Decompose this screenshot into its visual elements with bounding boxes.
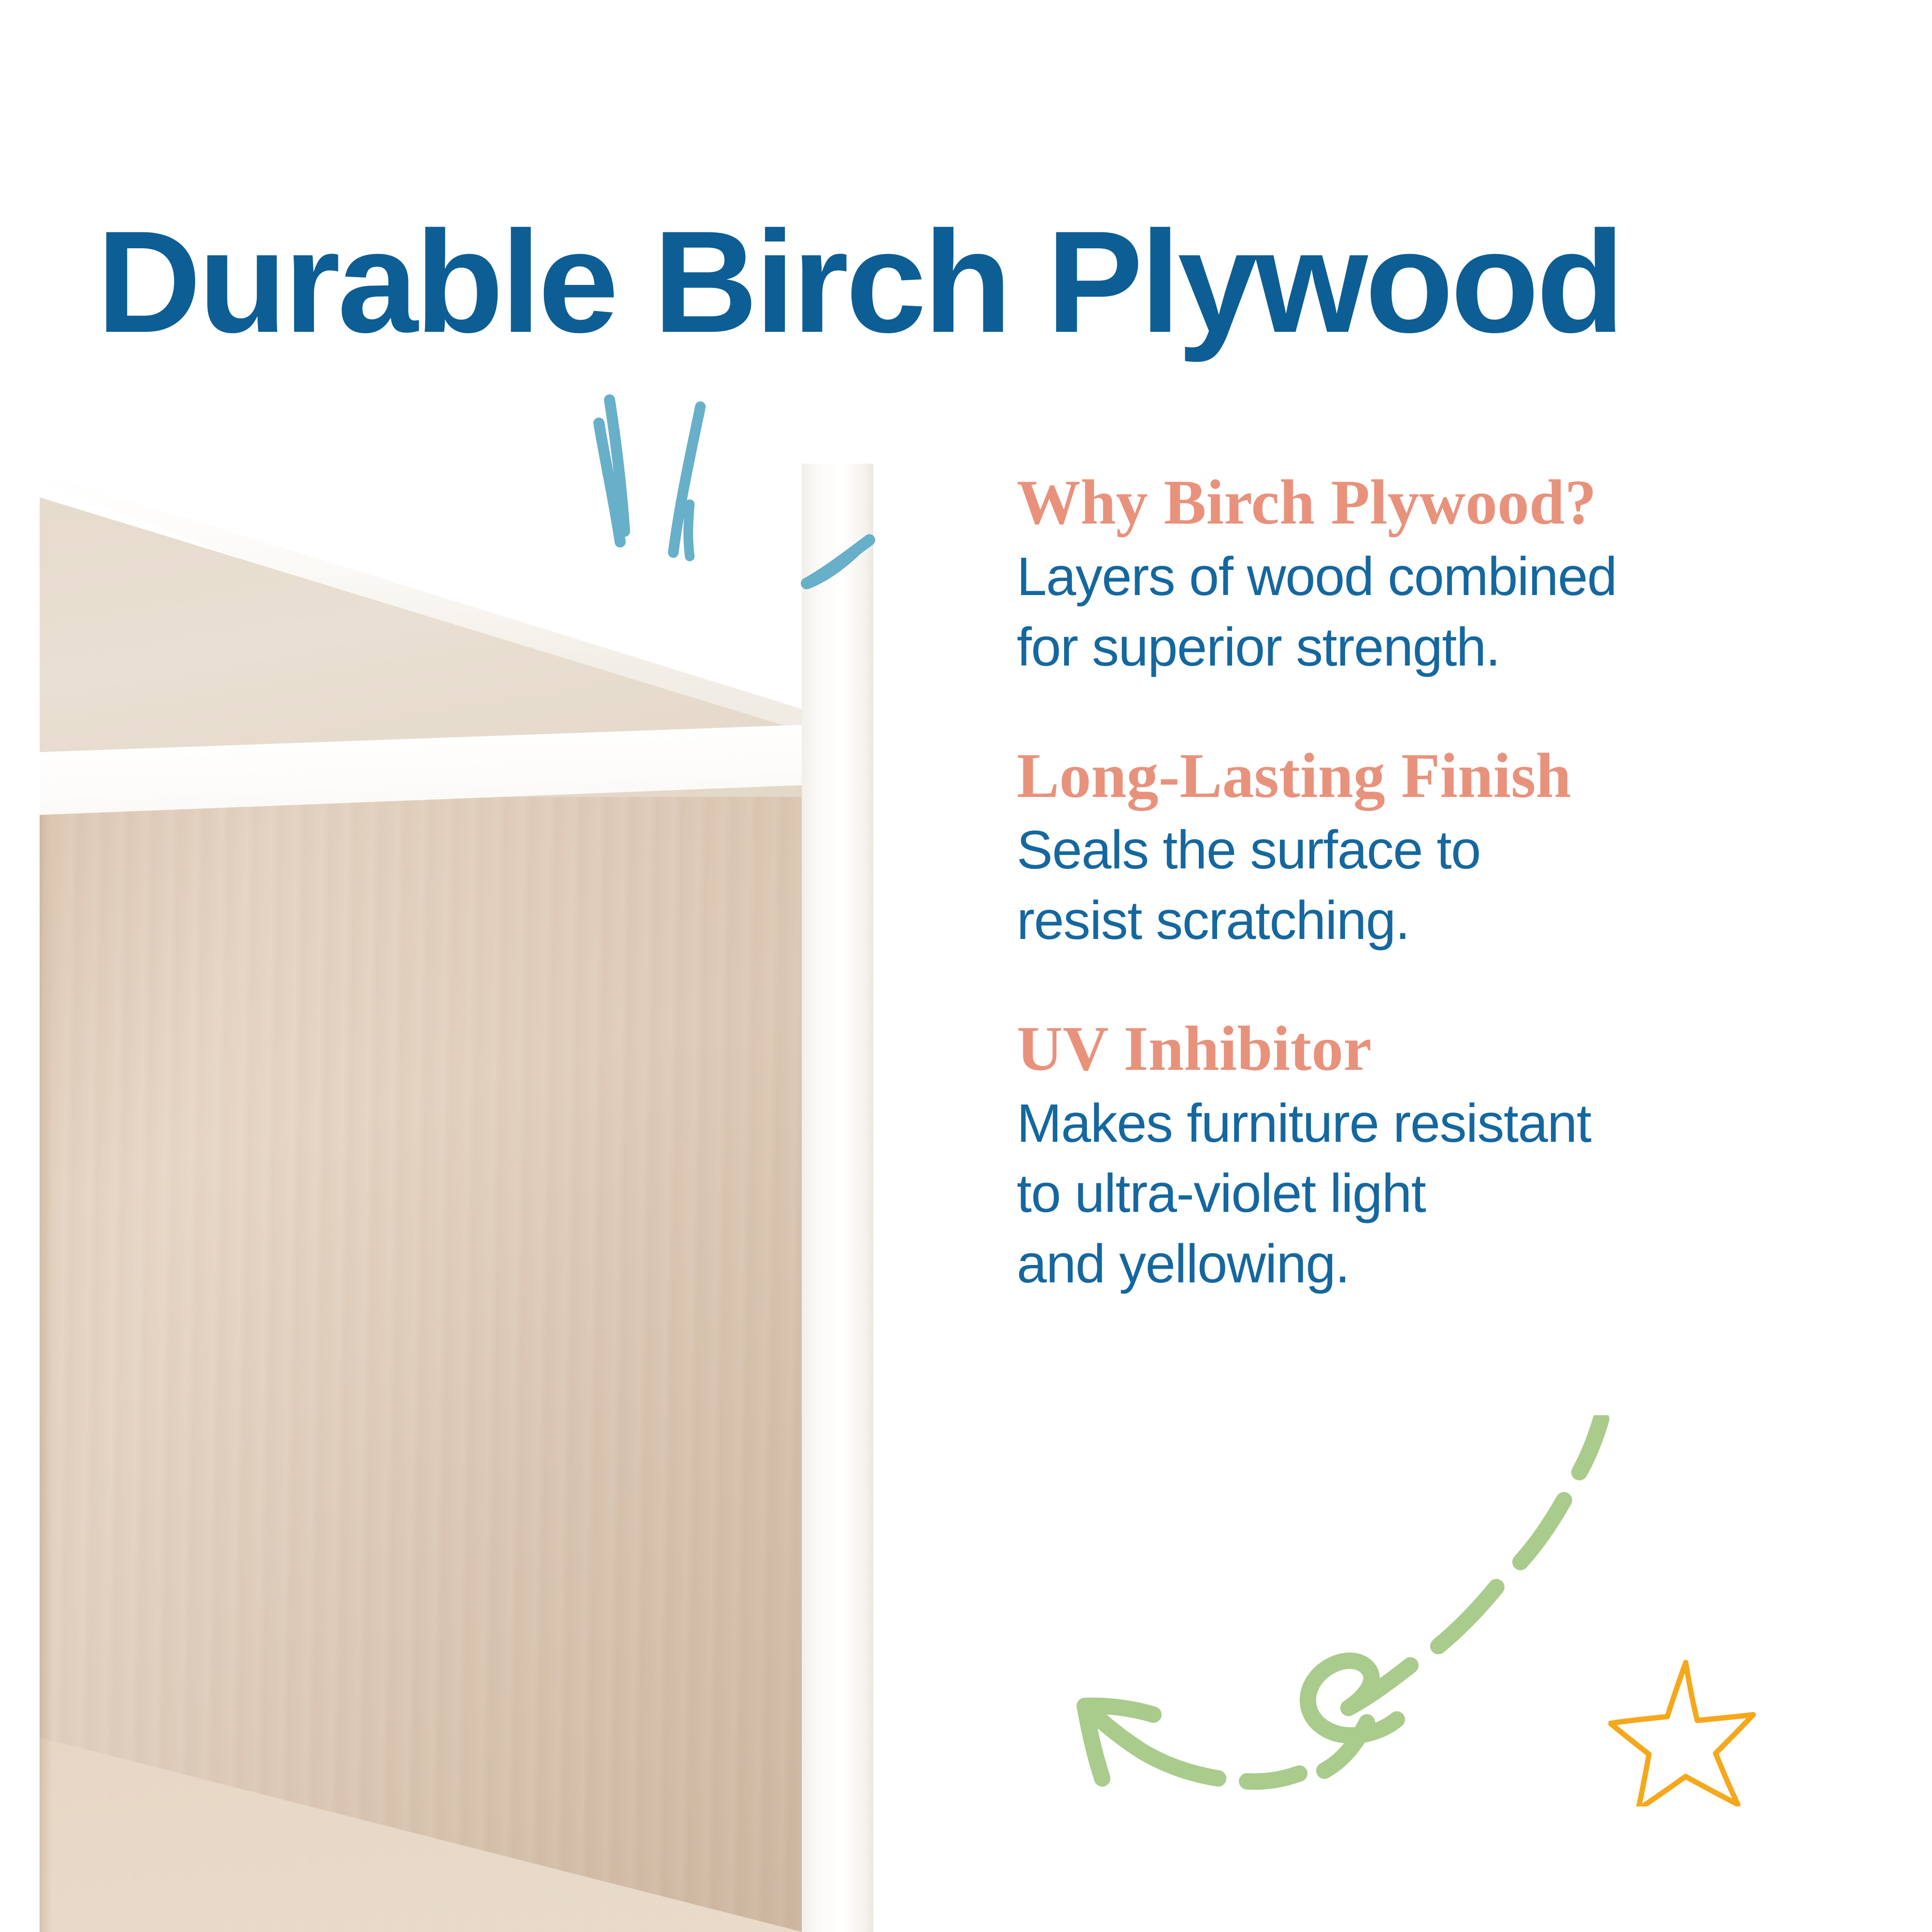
feature-heading: Why Birch Plywood? xyxy=(1017,466,1886,539)
star-outline-svg xyxy=(1608,1652,1763,1806)
star-outline-icon xyxy=(1608,1652,1763,1806)
interior-left-shadow xyxy=(40,797,52,1932)
feature-block-uv-inhibitor: UV Inhibitor Makes furniture resistant t… xyxy=(1017,1012,1886,1299)
curly-arrow-svg xyxy=(1029,1415,1666,1802)
cabinet-side-panel xyxy=(802,464,873,1932)
feature-body-line: to ultra-violet light xyxy=(1017,1158,1886,1229)
feature-body: Seals the surface to resist scratching. xyxy=(1017,815,1886,955)
feature-body: Layers of wood combined for superior str… xyxy=(1017,541,1886,682)
curly-arrow-left-icon xyxy=(1029,1415,1666,1802)
feature-list: Why Birch Plywood? Layers of wood combin… xyxy=(1017,466,1886,1299)
star-path xyxy=(1610,1662,1753,1806)
product-photo xyxy=(0,464,874,1932)
infographic-canvas: Durable Birch Plywood xyxy=(0,0,1932,1932)
feature-body-line: Makes furniture resistant xyxy=(1017,1088,1886,1159)
feature-body: Makes furniture resistant to ultra-viole… xyxy=(1017,1088,1886,1299)
surface-sheen xyxy=(40,797,803,1932)
page-title: Durable Birch Plywood xyxy=(97,209,1884,354)
feature-heading: UV Inhibitor xyxy=(1017,1012,1886,1085)
feature-heading: Long-Lasting Finish xyxy=(1017,739,1886,812)
feature-block-long-lasting-finish: Long-Lasting Finish Seals the surface to… xyxy=(1017,739,1886,956)
sparkle-lines-icon xyxy=(580,386,918,589)
feature-body-line: for superior strength. xyxy=(1017,612,1886,682)
feature-body-line: and yellowing. xyxy=(1017,1229,1886,1299)
feature-body-line: Seals the surface to xyxy=(1017,815,1886,885)
feature-body-line: Layers of wood combined xyxy=(1017,541,1886,612)
sparkle-lines-svg xyxy=(580,386,918,589)
feature-body-line: resist scratching. xyxy=(1017,885,1886,956)
feature-block-why-birch-plywood: Why Birch Plywood? Layers of wood combin… xyxy=(1017,466,1886,682)
